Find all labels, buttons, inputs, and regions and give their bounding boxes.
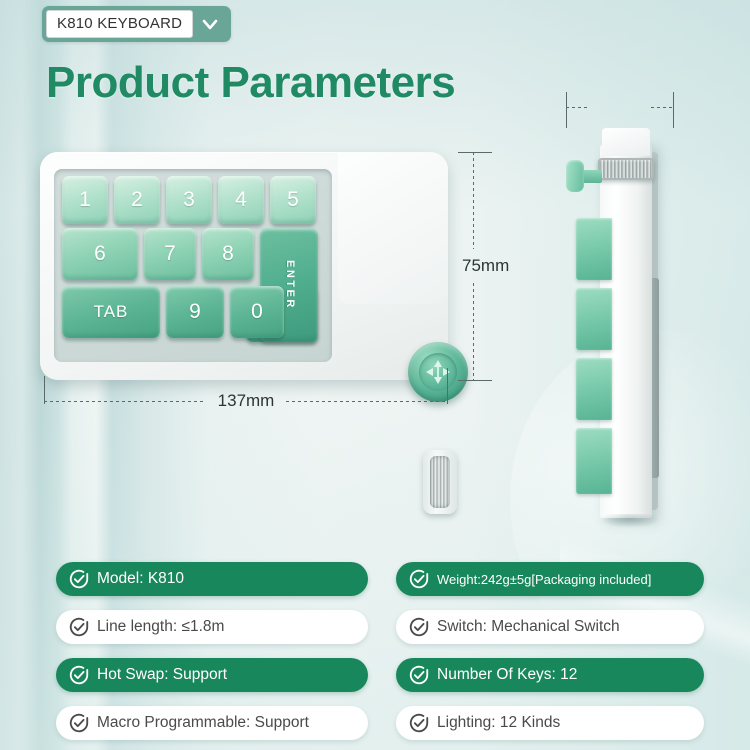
- dim-vline-top: [473, 152, 474, 249]
- dimension-width: 137mm: [44, 394, 448, 408]
- spec-item-hot-swap[interactable]: Hot Swap: Support: [56, 658, 368, 692]
- spec-item-label: Hot Swap: Support: [97, 666, 227, 684]
- dpad-joystick-icon[interactable]: [408, 342, 468, 402]
- spec-item-label: Number Of Keys: 12: [437, 666, 577, 684]
- spec-column-right: Weight:242g±5g[Packaging included] Switc…: [396, 562, 704, 750]
- circle-check-icon: [408, 664, 430, 686]
- side-joystick-cap: [566, 160, 584, 192]
- circle-check-icon: [68, 616, 90, 638]
- product-parameters-page: K810 KEYBOARD Product Parameters 1 2 3 4…: [0, 0, 750, 750]
- dimension-depth: [566, 100, 674, 114]
- spec-item-label: Switch: Mechanical Switch: [437, 618, 620, 636]
- circle-check-icon: [68, 568, 90, 590]
- circle-check-icon: [408, 712, 430, 734]
- circle-check-icon: [408, 568, 430, 590]
- spec-item-label: Weight:242g±5g[Packaging included]: [437, 572, 651, 587]
- key-2[interactable]: 2: [114, 176, 160, 224]
- dimension-height-label: 75mm: [462, 253, 509, 279]
- joystick-arrows-icon: [422, 356, 454, 388]
- key-4[interactable]: 4: [218, 176, 264, 224]
- circle-check-icon: [68, 664, 90, 686]
- spec-item-label: Line length: ≤1.8m: [97, 618, 224, 636]
- spec-item-lighting[interactable]: Lighting: 12 Kinds: [396, 706, 704, 740]
- spec-item-macro-programmable[interactable]: Macro Programmable: Support: [56, 706, 368, 740]
- key-7[interactable]: 7: [144, 228, 196, 280]
- spec-item-label: Macro Programmable: Support: [97, 714, 309, 732]
- side-keycap: [576, 288, 612, 350]
- scroll-wheel-icon[interactable]: [423, 450, 457, 514]
- scroll-wheel-ridges: [430, 456, 450, 508]
- side-edge: [652, 278, 659, 478]
- dim-line-depth-right: [651, 107, 674, 108]
- spec-item-switch[interactable]: Switch: Mechanical Switch: [396, 610, 704, 644]
- chevron-down-icon[interactable]: [193, 10, 227, 38]
- dropdown-value-box[interactable]: K810 KEYBOARD: [46, 10, 193, 38]
- dropdown-value: K810 KEYBOARD: [57, 15, 182, 32]
- key-tab[interactable]: TAB: [62, 286, 160, 338]
- side-keycaps: [576, 218, 610, 498]
- spec-item-label: Lighting: 12 Kinds: [437, 714, 560, 732]
- key-1[interactable]: 1: [62, 176, 108, 224]
- dim-tick-bottom: [458, 380, 492, 381]
- keyboard-top-view: 1 2 3 4 5 6 7 8 ENTER TAB 9 0: [40, 152, 448, 380]
- circle-check-icon: [408, 616, 430, 638]
- side-keycap: [576, 428, 612, 494]
- spec-item-line-length[interactable]: Line length: ≤1.8m: [56, 610, 368, 644]
- dim-line-depth-left: [566, 107, 589, 108]
- keyboard-side-view: [566, 118, 674, 518]
- spec-item-model[interactable]: Model: K810: [56, 562, 368, 596]
- side-keycap: [576, 358, 612, 420]
- key-6[interactable]: 6: [62, 228, 138, 280]
- dim-vline-bottom: [473, 283, 474, 380]
- page-title: Product Parameters: [46, 58, 455, 108]
- spec-item-label: Model: K810: [97, 570, 184, 588]
- spec-item-number-of-keys[interactable]: Number Of Keys: 12: [396, 658, 704, 692]
- key-3[interactable]: 3: [166, 176, 212, 224]
- circle-check-icon: [68, 712, 90, 734]
- keyboard-notch: [338, 152, 448, 304]
- key-9[interactable]: 9: [166, 286, 224, 338]
- key-5[interactable]: 5: [270, 176, 316, 224]
- key-0[interactable]: 0: [230, 286, 284, 338]
- spec-column-left: Model: K810 Line length: ≤1.8m Hot Swap:…: [56, 562, 368, 750]
- side-joystick-icon[interactable]: [566, 156, 608, 196]
- dim-line-right: [286, 401, 448, 402]
- side-top-cap: [602, 128, 650, 156]
- side-keycap: [576, 218, 612, 280]
- key-enter-label: ENTER: [284, 260, 296, 310]
- dim-line-left: [44, 401, 206, 402]
- dimension-width-label: 137mm: [206, 391, 287, 411]
- spec-item-weight[interactable]: Weight:242g±5g[Packaging included]: [396, 562, 704, 596]
- product-selector-dropdown[interactable]: K810 KEYBOARD: [42, 6, 231, 42]
- side-shadow: [600, 514, 660, 528]
